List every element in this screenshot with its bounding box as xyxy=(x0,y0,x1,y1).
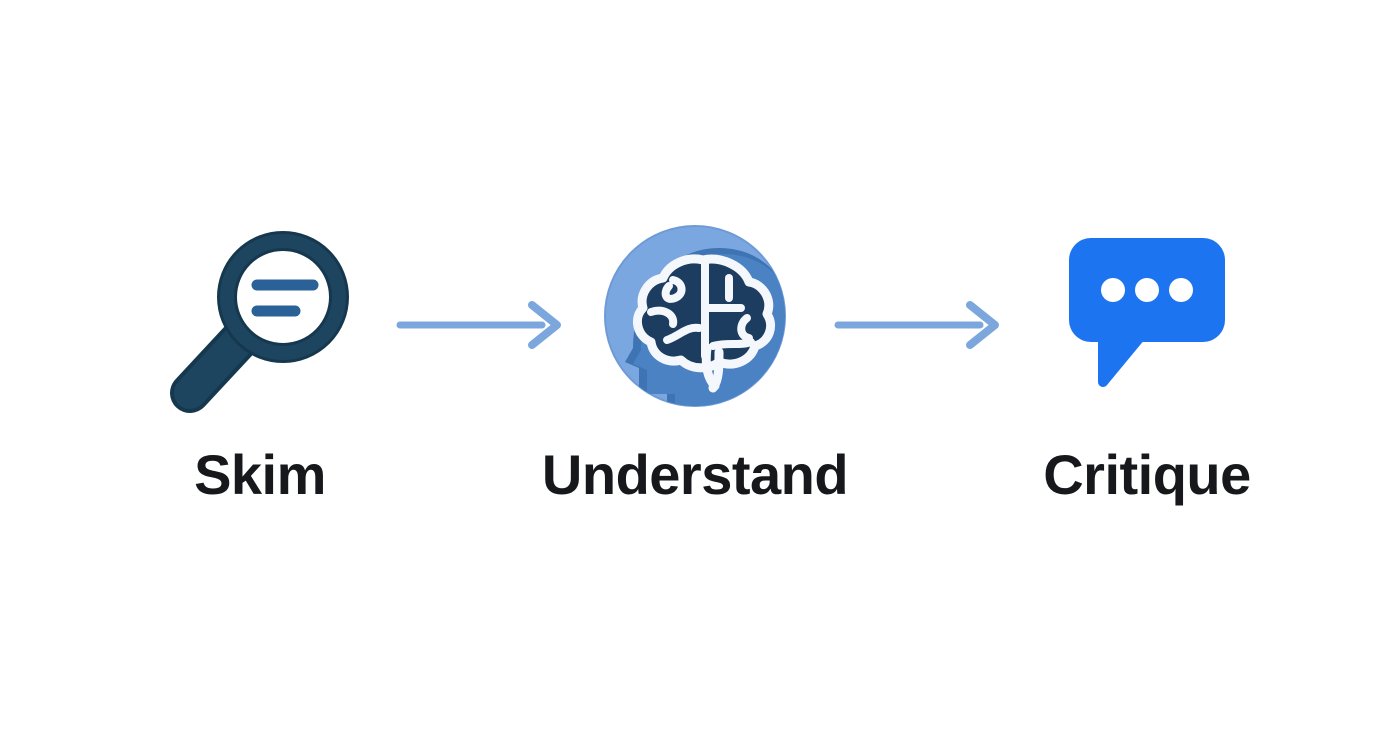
stage-skim[interactable]: Skim xyxy=(110,196,410,536)
stage-understand[interactable]: Understand xyxy=(545,196,845,536)
speech-bubble-icon xyxy=(1027,196,1267,436)
stage-critique[interactable]: Critique xyxy=(997,196,1297,536)
stage-label-critique: Critique xyxy=(1043,446,1251,505)
stage-label-understand: Understand xyxy=(542,446,848,505)
magnifying-glass-icon xyxy=(140,196,380,436)
diagram-canvas: Skim xyxy=(0,0,1392,752)
stage-label-skim: Skim xyxy=(194,446,326,505)
arrow-right-icon-2 xyxy=(830,297,1010,353)
brain-head-icon xyxy=(575,196,815,436)
